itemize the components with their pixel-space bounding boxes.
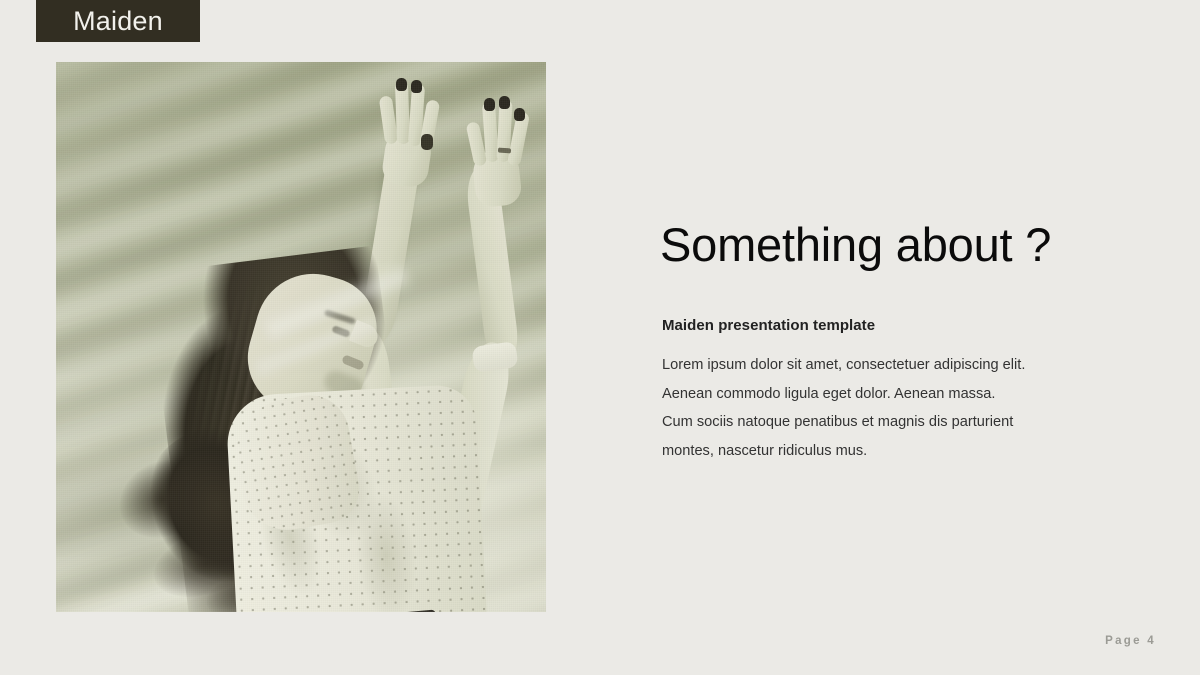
page-number: Page 4 [1105,635,1156,647]
page-title: Something about ? [660,218,1080,272]
brand-badge: Maiden [36,0,200,42]
sleeve-polka-dots [228,389,365,537]
photo-figure [56,62,546,612]
figure-left-hand [374,74,444,184]
subtitle: Maiden presentation template [662,317,875,334]
right-hand-ring [498,148,511,154]
slide-canvas: Maiden [0,0,1200,675]
left-hand-nail-thumb [421,134,433,150]
figure-right-hand [460,88,536,206]
text-column: Something about ? Maiden presentation te… [660,218,1080,272]
right-hand-nail-3 [499,96,510,109]
body-paragraph: Lorem ipsum dolor sit amet, consectetuer… [662,351,1028,465]
brand-badge-label: Maiden [73,8,163,35]
slide-photo [56,62,546,612]
photo-content [56,62,546,612]
figure-sleeve-cuff [471,341,518,373]
left-hand-nail-2 [396,78,407,91]
right-hand-nail-4 [514,108,525,121]
left-hand-nail-3 [411,80,422,93]
figure-sleeve [228,389,365,537]
right-hand-nail-2 [484,98,495,111]
